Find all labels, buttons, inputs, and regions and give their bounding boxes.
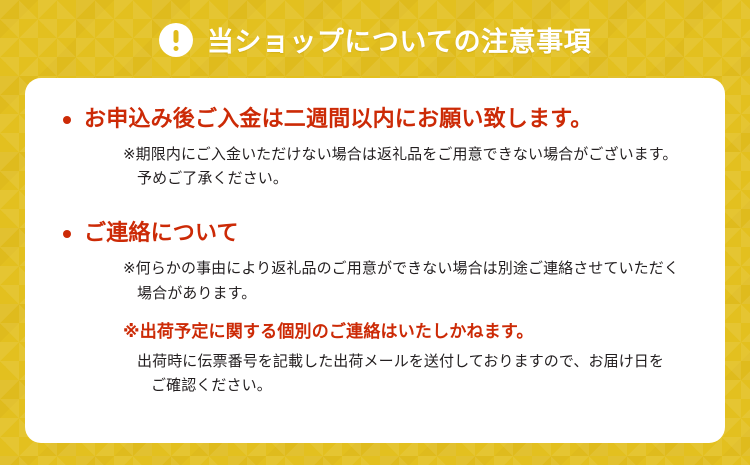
bullet-dot-icon [63, 230, 71, 238]
page-title: 当ショップについての注意事項 [207, 20, 591, 59]
note-line-1: ※出荷予定に関する個別のご連絡はいたしかねます。 [123, 319, 705, 347]
exclamation-dot [173, 46, 178, 51]
notice-section-1: お申込み後ご入金は二週間以内にお願い致します。 ※期限内にご入金いただけない場合… [45, 104, 705, 190]
note-line-2: 場合があります。 [123, 281, 705, 305]
bullet-heading-row: ご連絡について [63, 218, 705, 250]
notice-note: 出荷時に伝票番号を記載した出荷メールを送付しておりますので、お届け日を ご確認く… [137, 349, 705, 398]
alert-exclamation-circle-icon [159, 23, 193, 57]
note-line-2: ご確認ください。 [137, 373, 705, 397]
notice-banner: 当ショップについての注意事項 お申込み後ご入金は二週間以内にお願い致します。 ※… [0, 0, 750, 465]
banner-header: 当ショップについての注意事項 [0, 0, 750, 78]
notice-card: お申込み後ご入金は二週間以内にお願い致します。 ※期限内にご入金いただけない場合… [25, 78, 725, 443]
notice-note: ※期限内にご入金いただけない場合は返礼品をご用意できない場合がございます。 予め… [123, 142, 705, 191]
notice-section-2: ご連絡について ※何らかの事由により返礼品のご用意ができない場合は別途ご連絡させ… [45, 218, 705, 397]
note-line-1: 出荷時に伝票番号を記載した出荷メールを送付しておりますので、お届け日を [137, 349, 705, 373]
note-line-1: ※期限内にご入金いただけない場合は返礼品をご用意できない場合がございます。 [123, 142, 705, 166]
section-spacer [45, 192, 705, 218]
bullet-heading-row: お申込み後ご入金は二週間以内にお願い致します。 [63, 104, 705, 136]
bullet-dot-icon [63, 116, 71, 124]
note-line-1: ※何らかの事由により返礼品のご用意ができない場合は別途ご連絡させていただく [123, 256, 705, 280]
bullet-heading-text: ご連絡について [84, 218, 239, 250]
bullet-heading-text: お申込み後ご入金は二週間以内にお願い致します。 [84, 104, 592, 136]
notice-note-emphasis: ※出荷予定に関する個別のご連絡はいたしかねます。 [123, 319, 705, 347]
note-line-2: 予めご了承ください。 [123, 166, 705, 190]
exclamation-stem [173, 30, 178, 43]
notice-note: ※何らかの事由により返礼品のご用意ができない場合は別途ご連絡させていただく 場合… [123, 256, 705, 305]
